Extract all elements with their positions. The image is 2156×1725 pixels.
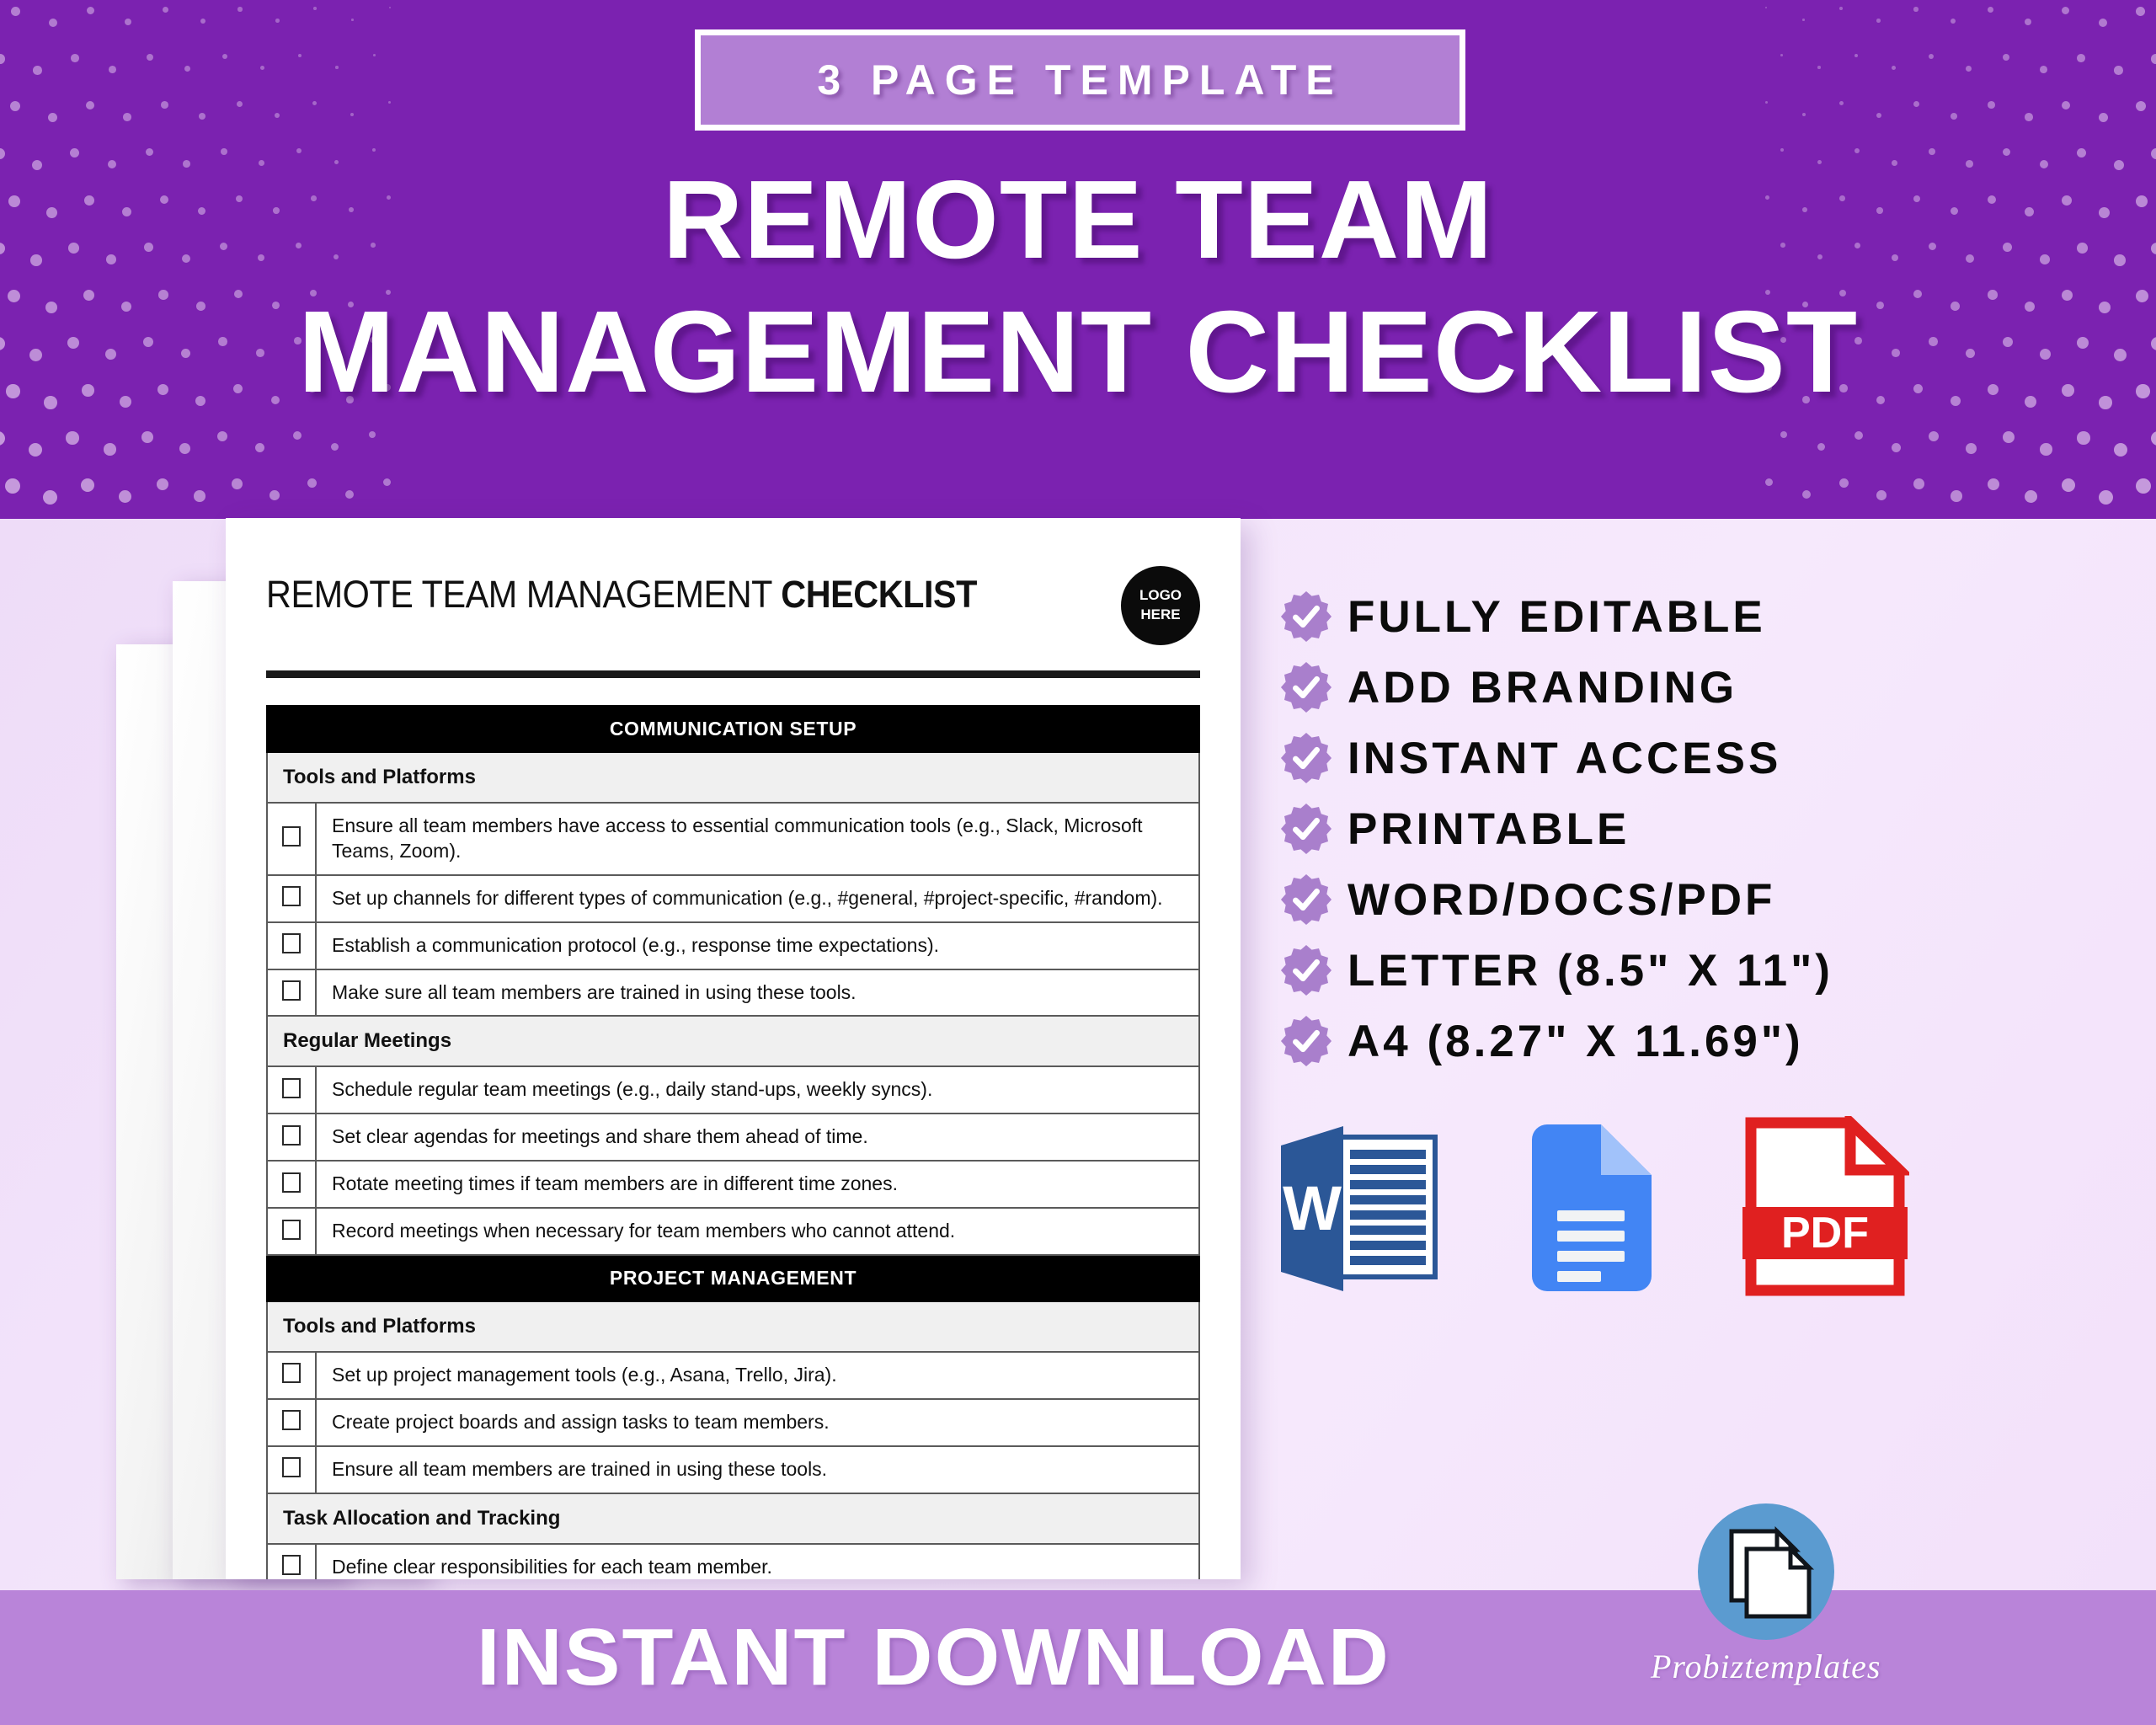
brand-name: Probiztemplates <box>1651 1647 1881 1686</box>
document-header: REMOTE TEAM MANAGEMENT CHECKLIST LOGO HE… <box>266 564 1200 645</box>
document-title-normal: REMOTE TEAM MANAGEMENT <box>266 573 781 616</box>
checklist-row: Establish a communication protocol (e.g.… <box>267 922 1199 969</box>
pattern-dot <box>1876 490 1886 500</box>
page-count-label: 3 PAGE TEMPLATE <box>817 56 1342 104</box>
checklist-item-label: Establish a communication protocol (e.g.… <box>316 922 1199 969</box>
pattern-dot <box>1817 66 1821 69</box>
pattern-dot <box>194 490 205 502</box>
pattern-dot <box>0 54 5 64</box>
checklist-row: Define clear responsibilities for each t… <box>267 1544 1199 1579</box>
checklist-checkbox-cell[interactable] <box>267 1352 316 1399</box>
feature-item: FULLY EDITABLE <box>1280 581 1833 652</box>
pattern-dot <box>119 490 131 503</box>
subgroup-heading-label: Tools and Platforms <box>267 1301 1199 1352</box>
feature-item: A4 (8.27" X 11.69") <box>1280 1006 1833 1076</box>
pattern-dot <box>313 7 317 10</box>
pattern-dot <box>1913 101 1919 107</box>
feature-label: LETTER (8.5" X 11") <box>1347 945 1833 996</box>
document-preview: REMOTE TEAM MANAGEMENT CHECKLIST LOGO HE… <box>226 518 1241 1579</box>
checkbox-icon[interactable] <box>282 1172 301 1193</box>
checklist-subheader-row: Task Allocation and Tracking <box>267 1493 1199 1544</box>
svg-text:W: W <box>1283 1173 1342 1243</box>
pattern-dot <box>1802 19 1805 21</box>
pattern-dot <box>312 101 317 105</box>
logo-placeholder: LOGO HERE <box>1121 566 1200 645</box>
checklist-checkbox-cell[interactable] <box>267 1161 316 1208</box>
checkbox-icon[interactable] <box>282 980 301 1001</box>
pattern-dot <box>157 478 168 490</box>
pattern-dot <box>2151 148 2156 159</box>
pattern-dot <box>1817 443 1825 451</box>
google-docs-icon <box>1517 1116 1668 1297</box>
pattern-dot <box>217 431 227 441</box>
pattern-dot <box>147 54 153 61</box>
feature-label: A4 (8.27" X 11.69") <box>1347 1016 1804 1067</box>
pattern-dot <box>2062 101 2070 109</box>
pattern-dot <box>5 478 20 494</box>
pattern-dot <box>163 7 168 13</box>
pattern-dot <box>1854 54 1858 57</box>
pattern-dot <box>48 113 57 122</box>
pattern-dot <box>200 19 205 24</box>
pattern-dot <box>237 101 243 107</box>
pattern-dot <box>87 7 94 14</box>
checklist-item-label: Record meetings when necessary for team … <box>316 1208 1199 1255</box>
pattern-dot <box>345 490 354 499</box>
feature-label: PRINTABLE <box>1347 804 1630 855</box>
checkbox-icon[interactable] <box>282 1457 301 1477</box>
feature-label: FULLY EDITABLE <box>1347 591 1766 643</box>
check-badge-icon <box>1280 944 1332 996</box>
subgroup-heading-label: Tools and Platforms <box>267 752 1199 803</box>
pattern-dot <box>298 54 302 57</box>
pattern-dot <box>43 490 57 505</box>
checklist-row: Set clear agendas for meetings and share… <box>267 1114 1199 1161</box>
checklist-subheader-row: Tools and Platforms <box>267 1301 1199 1352</box>
pattern-dot <box>1951 490 1962 502</box>
hero-title: REMOTE TEAM MANAGEMENT CHECKLIST <box>0 164 2156 410</box>
checklist-checkbox-cell[interactable] <box>267 1544 316 1579</box>
pattern-dot <box>350 113 354 116</box>
pattern-dot <box>221 148 227 155</box>
checklist-item-label: Set up channels for different types of c… <box>316 875 1199 922</box>
subgroup-heading-label: Regular Meetings <box>267 1016 1199 1066</box>
pattern-dot <box>2077 148 2086 158</box>
pattern-dot <box>1839 101 1844 105</box>
checklist-item-label: Schedule regular team meetings (e.g., da… <box>316 1066 1199 1114</box>
checkbox-icon[interactable] <box>282 886 301 906</box>
checklist-row: Set up channels for different types of c… <box>267 875 1199 922</box>
check-badge-icon <box>1280 661 1332 713</box>
feature-item: PRINTABLE <box>1280 793 1833 864</box>
pattern-dot <box>10 101 20 111</box>
checklist-row: Set up project management tools (e.g., A… <box>267 1352 1199 1399</box>
check-badge-icon <box>1280 1015 1332 1067</box>
pattern-dot <box>1854 148 1860 153</box>
checklist-row: Schedule regular team meetings (e.g., da… <box>267 1066 1199 1114</box>
pattern-dot <box>2003 148 2010 156</box>
checkbox-icon[interactable] <box>282 1078 301 1098</box>
pattern-dot <box>222 54 227 59</box>
feature-label: ADD BRANDING <box>1347 662 1737 713</box>
pattern-dot <box>2099 113 2108 122</box>
pattern-dot <box>184 66 190 72</box>
checklist-checkbox-cell[interactable] <box>267 875 316 922</box>
pattern-dot <box>293 431 302 440</box>
pattern-dot <box>296 148 302 153</box>
checklist-item-label: Create project boards and assign tasks t… <box>316 1399 1199 1446</box>
pattern-dot <box>275 19 280 23</box>
pattern-dot <box>2151 54 2156 64</box>
pattern-dot <box>335 66 339 69</box>
pattern-dot <box>2062 7 2069 14</box>
pattern-dot <box>86 101 94 109</box>
check-badge-icon <box>1280 873 1332 926</box>
feature-item: WORD/DOCS/PDF <box>1280 864 1833 935</box>
pattern-dot <box>125 19 131 25</box>
pattern-dot <box>33 66 42 75</box>
pattern-dot <box>1913 7 1919 12</box>
pattern-dot <box>49 19 57 27</box>
checkbox-icon[interactable] <box>282 933 301 953</box>
pattern-dot <box>2099 490 2113 505</box>
pattern-dot <box>1913 478 1924 489</box>
pattern-dot <box>1966 443 1977 454</box>
pattern-dot <box>66 431 79 445</box>
file-format-icons: W PDF <box>1276 1116 1909 1297</box>
pattern-dot <box>389 7 391 8</box>
pattern-dot <box>2040 66 2047 73</box>
pattern-dot <box>179 443 190 454</box>
checklist-checkbox-cell[interactable] <box>267 1446 316 1493</box>
checklist-subheader-row: Tools and Platforms <box>267 752 1199 803</box>
pattern-dot <box>372 148 376 152</box>
subgroup-heading-label: Task Allocation and Tracking <box>267 1493 1199 1544</box>
pattern-dot <box>109 66 116 73</box>
pattern-dot <box>1765 7 1767 8</box>
pdf-icon: PDF <box>1741 1116 1909 1297</box>
pattern-dot <box>71 54 79 62</box>
pattern-dot <box>255 443 264 452</box>
pattern-dot <box>70 148 79 158</box>
pattern-dot <box>141 431 153 443</box>
hero-title-line-2: MANAGEMENT CHECKLIST <box>0 294 2156 410</box>
pattern-dot <box>0 148 5 159</box>
checklist-checkbox-cell[interactable] <box>267 1114 316 1161</box>
check-badge-icon <box>1280 590 1332 643</box>
checklist-row: Ensure all team members have access to e… <box>267 803 1199 875</box>
pattern-dot <box>1929 54 1934 59</box>
feature-item: ADD BRANDING <box>1280 652 1833 723</box>
check-badge-icon <box>1280 732 1332 784</box>
feature-item: INSTANT ACCESS <box>1280 723 1833 793</box>
pattern-dot <box>2114 66 2123 75</box>
pattern-dot <box>1780 148 1784 152</box>
pattern-dot <box>275 113 280 118</box>
logo-placeholder-line-1: LOGO <box>1139 586 1182 606</box>
section-heading-label: PROJECT MANAGEMENT <box>267 1255 1199 1301</box>
pattern-dot <box>1780 431 1787 438</box>
checklist-item-label: Ensure all team members have access to e… <box>316 803 1199 875</box>
pattern-dot <box>2099 19 2107 27</box>
pattern-dot <box>0 431 5 446</box>
pattern-dot <box>2136 478 2151 494</box>
brand-logo-circle <box>1698 1503 1834 1640</box>
checklist-checkbox-cell[interactable] <box>267 1208 316 1255</box>
pattern-dot <box>146 148 153 156</box>
pattern-dot <box>1854 431 1863 440</box>
pattern-dot <box>2062 478 2075 492</box>
pattern-dot <box>260 66 264 70</box>
pattern-dot <box>388 101 391 104</box>
pattern-dot <box>1802 113 1806 116</box>
feature-label: INSTANT ACCESS <box>1347 733 1781 784</box>
pattern-dot <box>331 443 339 451</box>
checklist-row: Rotate meeting times if team members are… <box>267 1161 1199 1208</box>
checklist-checkbox-cell[interactable] <box>267 922 316 969</box>
pattern-dot <box>1765 101 1768 104</box>
pattern-dot <box>269 490 280 500</box>
checklist-item-label: Set up project management tools (e.g., A… <box>316 1352 1199 1399</box>
checklist-checkbox-cell[interactable] <box>267 1399 316 1446</box>
checklist-item-label: Make sure all team members are trained i… <box>316 969 1199 1017</box>
pattern-dot <box>161 101 168 109</box>
checklist-item-label: Define clear responsibilities for each t… <box>316 1544 1199 1579</box>
pattern-dot <box>2151 431 2156 446</box>
pattern-dot <box>2114 443 2127 457</box>
feature-list: FULLY EDITABLEADD BRANDINGINSTANT ACCESS… <box>1280 581 1833 1076</box>
feature-item: LETTER (8.5" X 11") <box>1280 935 1833 1006</box>
pattern-dot <box>351 19 354 21</box>
checklist-row: Ensure all team members are trained in u… <box>267 1446 1199 1493</box>
checklist-subheader-row: Regular Meetings <box>267 1016 1199 1066</box>
pattern-dot <box>1929 148 1935 155</box>
pattern-dot <box>2077 54 2085 62</box>
pattern-dot <box>1966 66 1972 72</box>
document-title-bold: CHECKLIST <box>781 573 977 616</box>
checklist-row: Record meetings when necessary for team … <box>267 1208 1199 1255</box>
checklist-checkbox-cell[interactable] <box>267 803 316 875</box>
pattern-dot <box>383 478 391 486</box>
section-heading-label: COMMUNICATION SETUP <box>267 706 1199 752</box>
checklist-row: Create project boards and assign tasks t… <box>267 1399 1199 1446</box>
checklist-item-label: Ensure all team members are trained in u… <box>316 1446 1199 1493</box>
checklist-table: COMMUNICATION SETUPTools and PlatformsEn… <box>266 705 1200 1579</box>
pattern-dot <box>237 7 243 12</box>
hero-title-line-1: REMOTE TEAM <box>0 164 2156 275</box>
pattern-dot <box>1951 113 1957 120</box>
pattern-dot <box>1988 478 1999 490</box>
pattern-dot <box>1988 7 1993 13</box>
brand-logo: Probiztemplates <box>1651 1503 1881 1686</box>
pattern-dot <box>199 113 205 120</box>
pattern-dot <box>2025 113 2033 121</box>
pattern-dot <box>1892 443 1901 452</box>
checkbox-icon[interactable] <box>282 1125 301 1146</box>
checkbox-icon[interactable] <box>282 826 301 846</box>
logo-placeholder-line-2: HERE <box>1140 606 1180 625</box>
pattern-dot <box>104 443 116 456</box>
pattern-dot <box>373 54 376 56</box>
pattern-dot <box>11 7 20 16</box>
pattern-dot <box>29 443 42 457</box>
checklist-item-label: Rotate meeting times if team members are… <box>316 1161 1199 1208</box>
checklist-checkbox-cell[interactable] <box>267 1066 316 1114</box>
checklist-section-header: PROJECT MANAGEMENT <box>267 1255 1199 1301</box>
checkbox-icon[interactable] <box>282 1555 301 1575</box>
pattern-dot <box>2136 101 2146 111</box>
pattern-dot <box>307 478 317 488</box>
checkbox-icon[interactable] <box>282 1363 301 1383</box>
pattern-dot <box>1839 478 1849 488</box>
pattern-dot <box>2025 19 2031 25</box>
checklist-item-label: Set clear agendas for meetings and share… <box>316 1114 1199 1161</box>
pattern-dot <box>2136 7 2145 16</box>
pattern-dot <box>1876 113 1881 118</box>
pattern-dot <box>2025 490 2037 503</box>
page-count-badge: 3 PAGE TEMPLATE <box>695 29 1465 131</box>
pattern-dot <box>1780 54 1783 56</box>
pattern-dot <box>81 478 94 492</box>
microsoft-word-icon: W <box>1276 1116 1444 1297</box>
pattern-dot <box>1876 19 1881 23</box>
stacked-pages-icon <box>1698 1503 1834 1640</box>
pattern-dot <box>2003 54 2009 61</box>
pattern-dot <box>2040 443 2052 456</box>
pattern-dot <box>232 478 243 489</box>
document-title: REMOTE TEAM MANAGEMENT CHECKLIST <box>266 573 977 617</box>
checkbox-icon[interactable] <box>282 1220 301 1240</box>
checklist-section-header: COMMUNICATION SETUP <box>267 706 1199 752</box>
pattern-dot <box>1951 19 1956 24</box>
pattern-dot <box>1988 101 1995 109</box>
checklist-checkbox-cell[interactable] <box>267 969 316 1017</box>
document-divider <box>266 670 1200 678</box>
pattern-dot <box>1802 490 1811 499</box>
svg-text:PDF: PDF <box>1781 1209 1869 1258</box>
checklist-row: Make sure all team members are trained i… <box>267 969 1199 1017</box>
pattern-dot <box>2077 431 2090 445</box>
check-badge-icon <box>1280 803 1332 855</box>
pattern-dot <box>1892 66 1896 70</box>
checkbox-icon[interactable] <box>282 1410 301 1430</box>
pattern-dot <box>1929 431 1939 441</box>
pattern-dot <box>1839 7 1843 10</box>
pattern-dot <box>2003 431 2015 443</box>
pattern-dot <box>123 113 131 121</box>
feature-label: WORD/DOCS/PDF <box>1347 874 1775 926</box>
pattern-dot <box>1765 478 1773 486</box>
pattern-dot <box>369 431 376 438</box>
